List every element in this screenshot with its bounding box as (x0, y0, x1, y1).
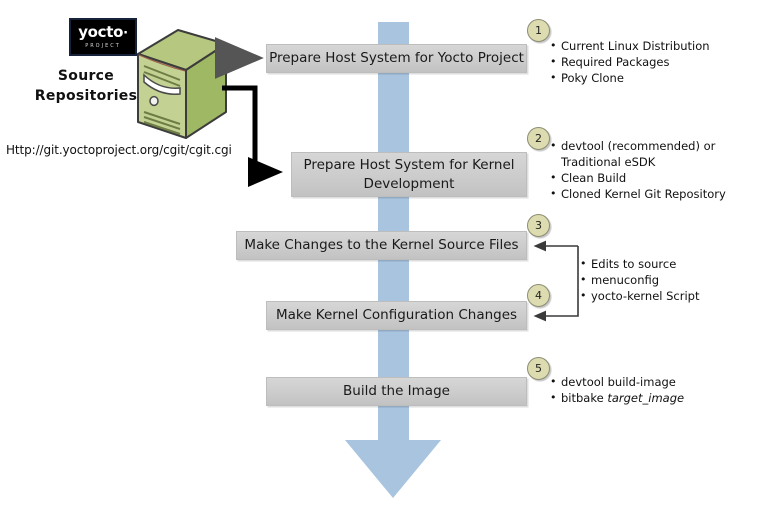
step-number-5: 5 (527, 357, 550, 380)
list-item: Clean Build (550, 170, 726, 186)
process-box-step-2-line1: Prepare Host System for Kernel (303, 156, 514, 175)
process-box-step-5[interactable]: Build the Image (266, 377, 527, 406)
source-label-line2: Repositories (26, 86, 146, 106)
step-number-2: 2 (527, 127, 550, 150)
list-item: Required Packages (550, 54, 710, 70)
yocto-logo-dot: · (123, 26, 128, 41)
source-repository-url: Http://git.yoctoproject.org/cgit/cgit.cg… (6, 143, 232, 157)
process-box-step-2-line2: Development (303, 175, 514, 194)
list-item: menuconfig (580, 272, 700, 288)
source-label-line1: Source (26, 66, 146, 86)
diagram-canvas: yocto· PROJECT Source Repositories Http:… (0, 0, 769, 517)
list-item: bitbake target_image (550, 390, 684, 406)
step-number-1: 1 (527, 19, 550, 42)
yocto-project-logo: yocto· PROJECT (69, 18, 137, 56)
step-number-3: 3 (527, 214, 550, 237)
server-tower-icon (134, 28, 230, 140)
main-flow-arrow-head (345, 440, 441, 498)
list-item: devtool build-image (550, 374, 684, 390)
bitbake-target-arg: target_image (607, 391, 684, 405)
process-box-step-3[interactable]: Make Changes to the Kernel Source Files (236, 231, 527, 260)
step-5-bullets: devtool build-image bitbake target_image (550, 374, 684, 406)
bitbake-command: bitbake (561, 391, 607, 405)
step-1-bullets: Current Linux Distribution Required Pack… (550, 38, 710, 86)
list-item-text-b: Traditional eSDK (561, 154, 726, 170)
source-repositories-label: Source Repositories (26, 66, 146, 106)
step-3-4-bullets: Edits to source menuconfig yocto-kernel … (580, 256, 700, 304)
yocto-logo-text: yocto (78, 23, 123, 41)
process-box-step-4[interactable]: Make Kernel Configuration Changes (266, 301, 527, 330)
list-item: yocto-kernel Script (580, 288, 700, 304)
list-item: devtool (recommended) or Traditional eSD… (550, 138, 726, 170)
step-2-bullets: devtool (recommended) or Traditional eSD… (550, 138, 726, 202)
list-item: Current Linux Distribution (550, 38, 710, 54)
list-item: Poky Clone (550, 70, 710, 86)
step-number-4: 4 (527, 284, 550, 307)
yocto-logo-wordmark: yocto· (78, 25, 128, 41)
list-item: Edits to source (580, 256, 700, 272)
process-box-step-1[interactable]: Prepare Host System for Yocto Project (266, 44, 527, 73)
process-box-step-2[interactable]: Prepare Host System for Kernel Developme… (291, 152, 527, 197)
list-item-text-a: devtool (recommended) or (561, 139, 715, 153)
yocto-logo-subtext: PROJECT (85, 42, 121, 50)
list-item: Cloned Kernel Git Repository (550, 186, 726, 202)
